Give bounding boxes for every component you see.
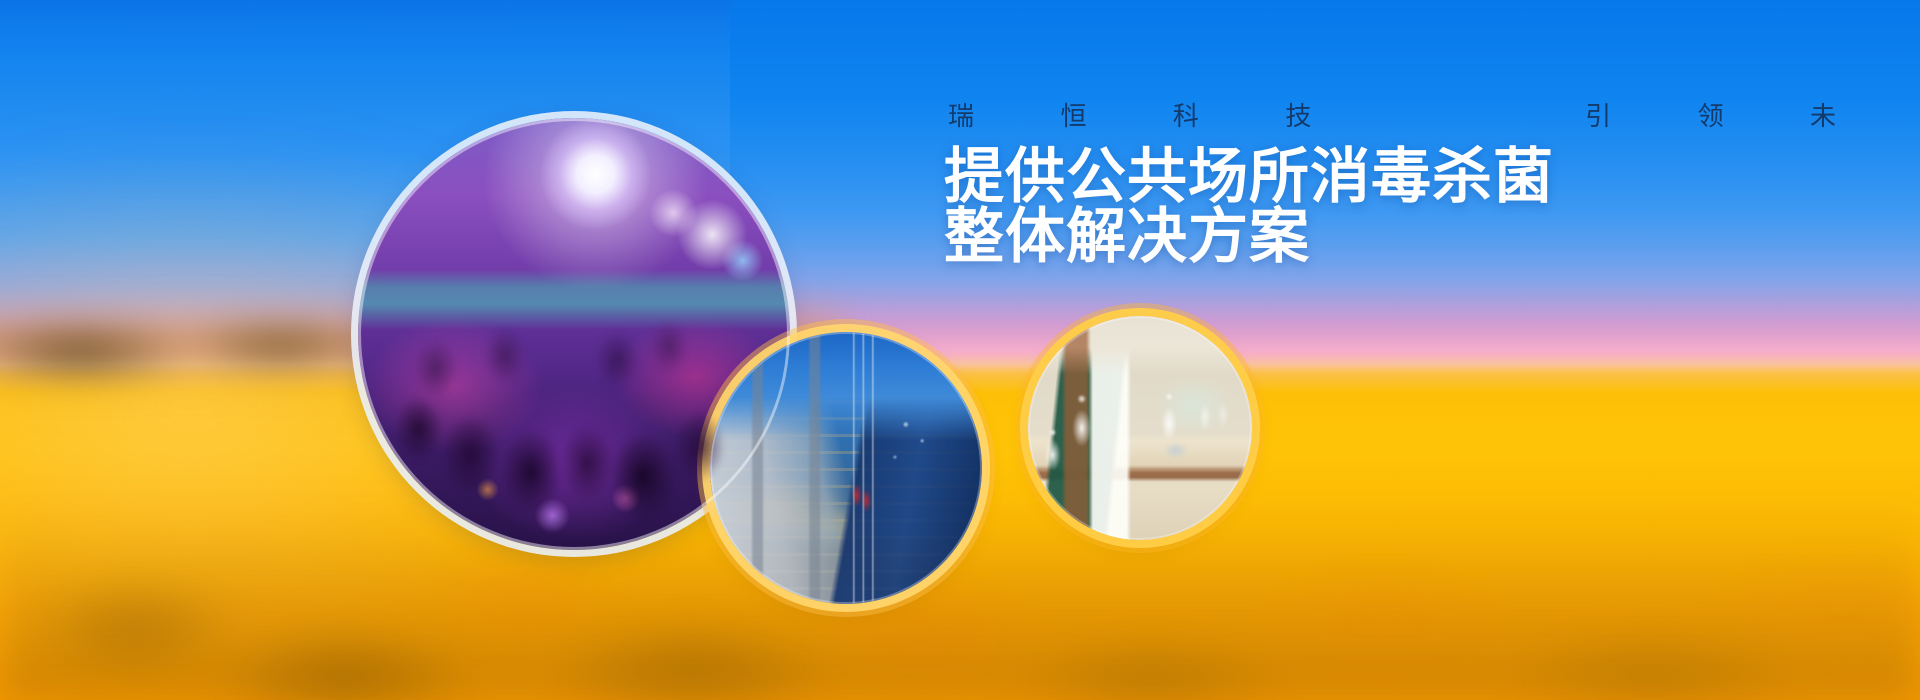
photo-circle-hospital	[1028, 316, 1252, 540]
office-towers-details	[710, 332, 982, 604]
banner-text-block: 瑞 恒 科 技 引 领 未 来 提供公共场所消毒杀菌 整体解决方案	[944, 102, 1920, 270]
photo-circle-office-towers	[710, 332, 982, 604]
hospital-details	[1028, 316, 1252, 540]
banner-headline-line-1: 提供公共场所消毒杀菌	[944, 145, 1920, 210]
banner-headline-line-2: 整体解决方案	[944, 205, 1920, 270]
promo-banner: 瑞 恒 科 技 引 领 未 来 提供公共场所消毒杀菌 整体解决方案	[0, 0, 1920, 700]
banner-tagline: 瑞 恒 科 技 引 领 未 来	[944, 102, 1920, 131]
